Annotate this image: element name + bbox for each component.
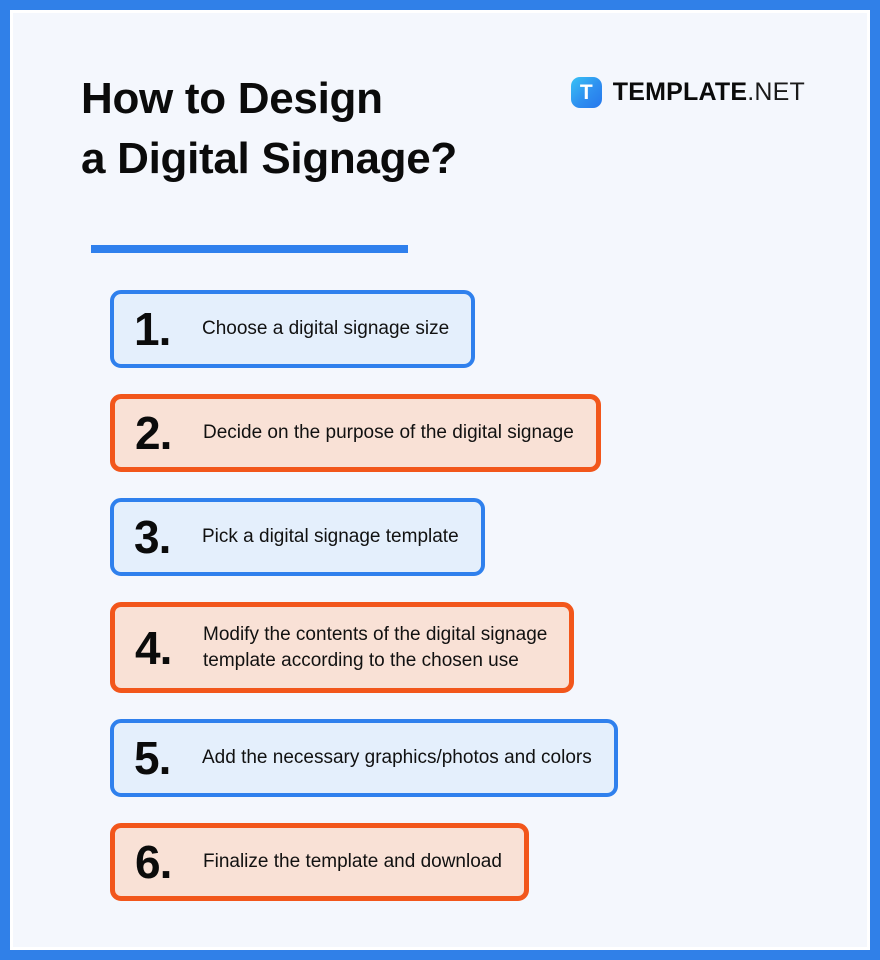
- brand-wordmark: TEMPLATE.NET: [613, 80, 805, 105]
- title-underline-bar: [91, 245, 408, 253]
- step-number: 4.: [135, 625, 199, 671]
- brand-logo[interactable]: T TEMPLATE.NET: [571, 77, 805, 108]
- step-text: Pick a digital signage template: [198, 524, 459, 549]
- step-text: Add the necessary graphics/photos and co…: [198, 745, 592, 770]
- step-number: 6.: [135, 839, 199, 885]
- poster-canvas: How to Design a Digital Signage? T TEMPL…: [10, 10, 870, 950]
- step-row[interactable]: 1.Choose a digital signage size: [110, 290, 475, 368]
- step-text: Choose a digital signage size: [198, 316, 449, 341]
- step-text: Modify the contents of the digital signa…: [199, 622, 547, 673]
- steps-list: 1.Choose a digital signage size2.Decide …: [110, 290, 810, 927]
- step-number: 2.: [135, 410, 199, 456]
- poster-header: How to Design a Digital Signage? T TEMPL…: [13, 13, 867, 263]
- step-row[interactable]: 4.Modify the contents of the digital sig…: [110, 602, 574, 693]
- step-number: 1.: [134, 306, 198, 352]
- step-row[interactable]: 3.Pick a digital signage template: [110, 498, 485, 576]
- page-title: How to Design a Digital Signage?: [81, 69, 457, 190]
- step-text: Decide on the purpose of the digital sig…: [199, 420, 574, 445]
- brand-mark-letter: T: [571, 77, 602, 108]
- step-text: Finalize the template and download: [199, 849, 502, 874]
- step-number: 5.: [134, 735, 198, 781]
- step-row[interactable]: 6.Finalize the template and download: [110, 823, 529, 901]
- poster-frame: How to Design a Digital Signage? T TEMPL…: [0, 0, 880, 960]
- template-logo-icon: T: [571, 77, 602, 108]
- step-row[interactable]: 2.Decide on the purpose of the digital s…: [110, 394, 601, 472]
- brand-wordmark-tld: .NET: [747, 78, 805, 106]
- step-number: 3.: [134, 514, 198, 560]
- step-row[interactable]: 5.Add the necessary graphics/photos and …: [110, 719, 618, 797]
- brand-wordmark-main: TEMPLATE: [613, 78, 747, 106]
